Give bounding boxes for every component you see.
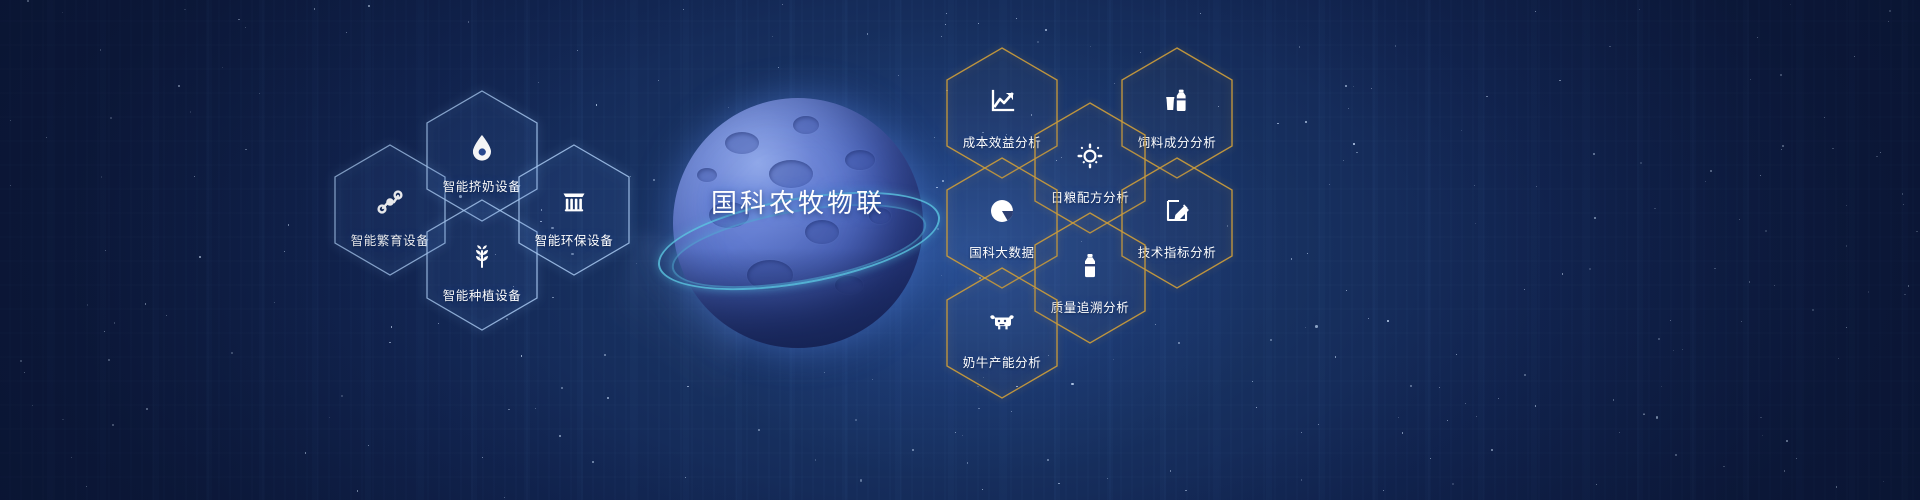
- hex-label: 智能种植设备: [443, 285, 522, 304]
- hex-label: 国科大数据: [969, 242, 1035, 261]
- hex-label: 智能繁育设备: [351, 230, 430, 249]
- page-title: 国科农牧物联: [648, 183, 948, 220]
- node-network-icon: [375, 186, 405, 216]
- hero-banner: 智能繁育设备 智能挤奶设备: [0, 0, 1920, 500]
- planet-graphic: [648, 92, 948, 392]
- trash-bin-icon: [559, 186, 589, 216]
- hex-label: 日粮配方分析: [1051, 187, 1130, 206]
- milk-bottle-icon: [1075, 251, 1105, 281]
- plant-leaf-icon: [467, 241, 497, 271]
- hex-label: 饲料成分分析: [1138, 132, 1217, 151]
- hex-label: 智能挤奶设备: [443, 176, 522, 195]
- hex-left-environment[interactable]: 智能环保设备: [516, 143, 632, 277]
- hex-label: 成本效益分析: [963, 132, 1042, 151]
- pie-chart-icon: [987, 196, 1017, 226]
- cow-icon: [987, 306, 1017, 336]
- sun-icon: [1075, 141, 1105, 171]
- line-chart-icon: [987, 86, 1017, 116]
- hex-label: 奶牛产能分析: [963, 352, 1042, 371]
- hex-label: 智能环保设备: [535, 230, 614, 249]
- water-drop-icon: [467, 132, 497, 162]
- bottle-cup-icon: [1162, 86, 1192, 116]
- hex-label: 技术指标分析: [1138, 242, 1217, 261]
- hex-label: 质量追溯分析: [1051, 297, 1130, 316]
- hex-right-cow-capacity[interactable]: 奶牛产能分析: [944, 266, 1060, 400]
- pencil-edit-icon: [1162, 196, 1192, 226]
